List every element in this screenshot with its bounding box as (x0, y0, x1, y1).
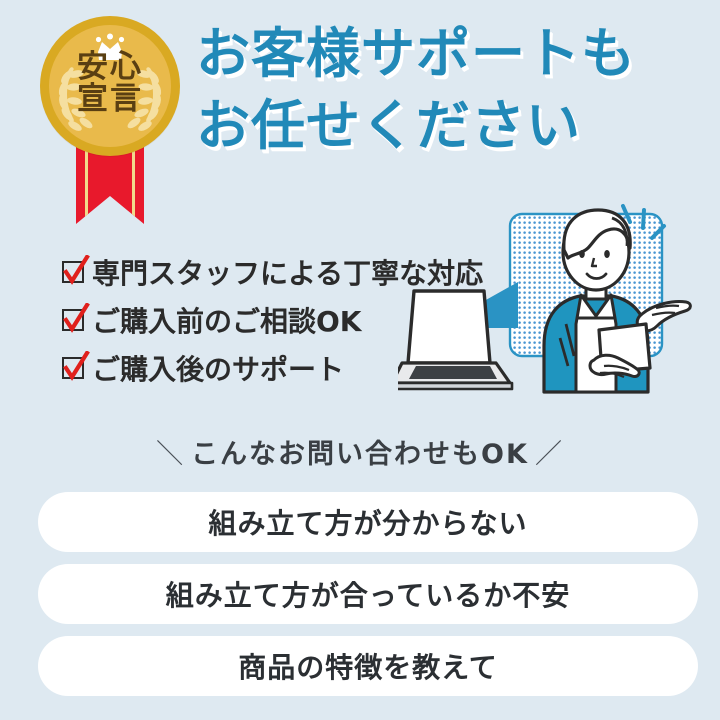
slash-right-icon: ／ (529, 432, 570, 471)
badge-line-2: 宣言 (40, 84, 180, 116)
pill-label: 組み立て方が分からない (208, 502, 527, 542)
check-mark-icon (61, 303, 91, 335)
customer-support-banner: 安心 宣言 お客様サポートも お任せください 専門スタッフによる丁寧な対応 (0, 0, 720, 720)
inquiry-subheading: ＼こんなお問い合わせもOK／ (0, 432, 720, 471)
pill-label: 組み立て方が合っているか不安 (166, 574, 571, 614)
slash-left-icon: ＼ (150, 432, 191, 471)
page-title: お客様サポートも お任せください (196, 18, 716, 162)
medal-outer-ring: 安心 宣言 (40, 16, 180, 156)
check-mark-icon (61, 351, 91, 383)
list-item[interactable]: 組み立て方が分からない (38, 492, 698, 552)
check-mark-icon (61, 255, 91, 287)
headline-line-2: お任せください (196, 90, 716, 162)
support-staff-illustration (398, 196, 720, 428)
checklist-label: ご購入後のサポート (92, 356, 344, 384)
pill-label: 商品の特徴を教えて (238, 646, 498, 686)
checkbox-checked-icon (62, 357, 88, 383)
inquiry-examples-list: 組み立て方が分からない 組み立て方が合っているか不安 商品の特徴を教えて (38, 492, 698, 708)
assurance-badge: 安心 宣言 (34, 12, 186, 224)
inquiry-subheading-text: こんなお問い合わせもOK (191, 439, 529, 470)
checkbox-checked-icon (62, 309, 88, 335)
checklist-label: ご購入前のご相談OK (92, 308, 362, 336)
list-item[interactable]: 商品の特徴を教えて (38, 636, 698, 696)
list-item[interactable]: 組み立て方が合っているか不安 (38, 564, 698, 624)
badge-text: 安心 宣言 (40, 52, 180, 115)
woman-with-tablet (544, 210, 690, 392)
badge-line-1: 安心 (40, 52, 180, 84)
checkbox-checked-icon (62, 261, 88, 287)
headline-line-1: お客様サポートも (196, 18, 716, 90)
